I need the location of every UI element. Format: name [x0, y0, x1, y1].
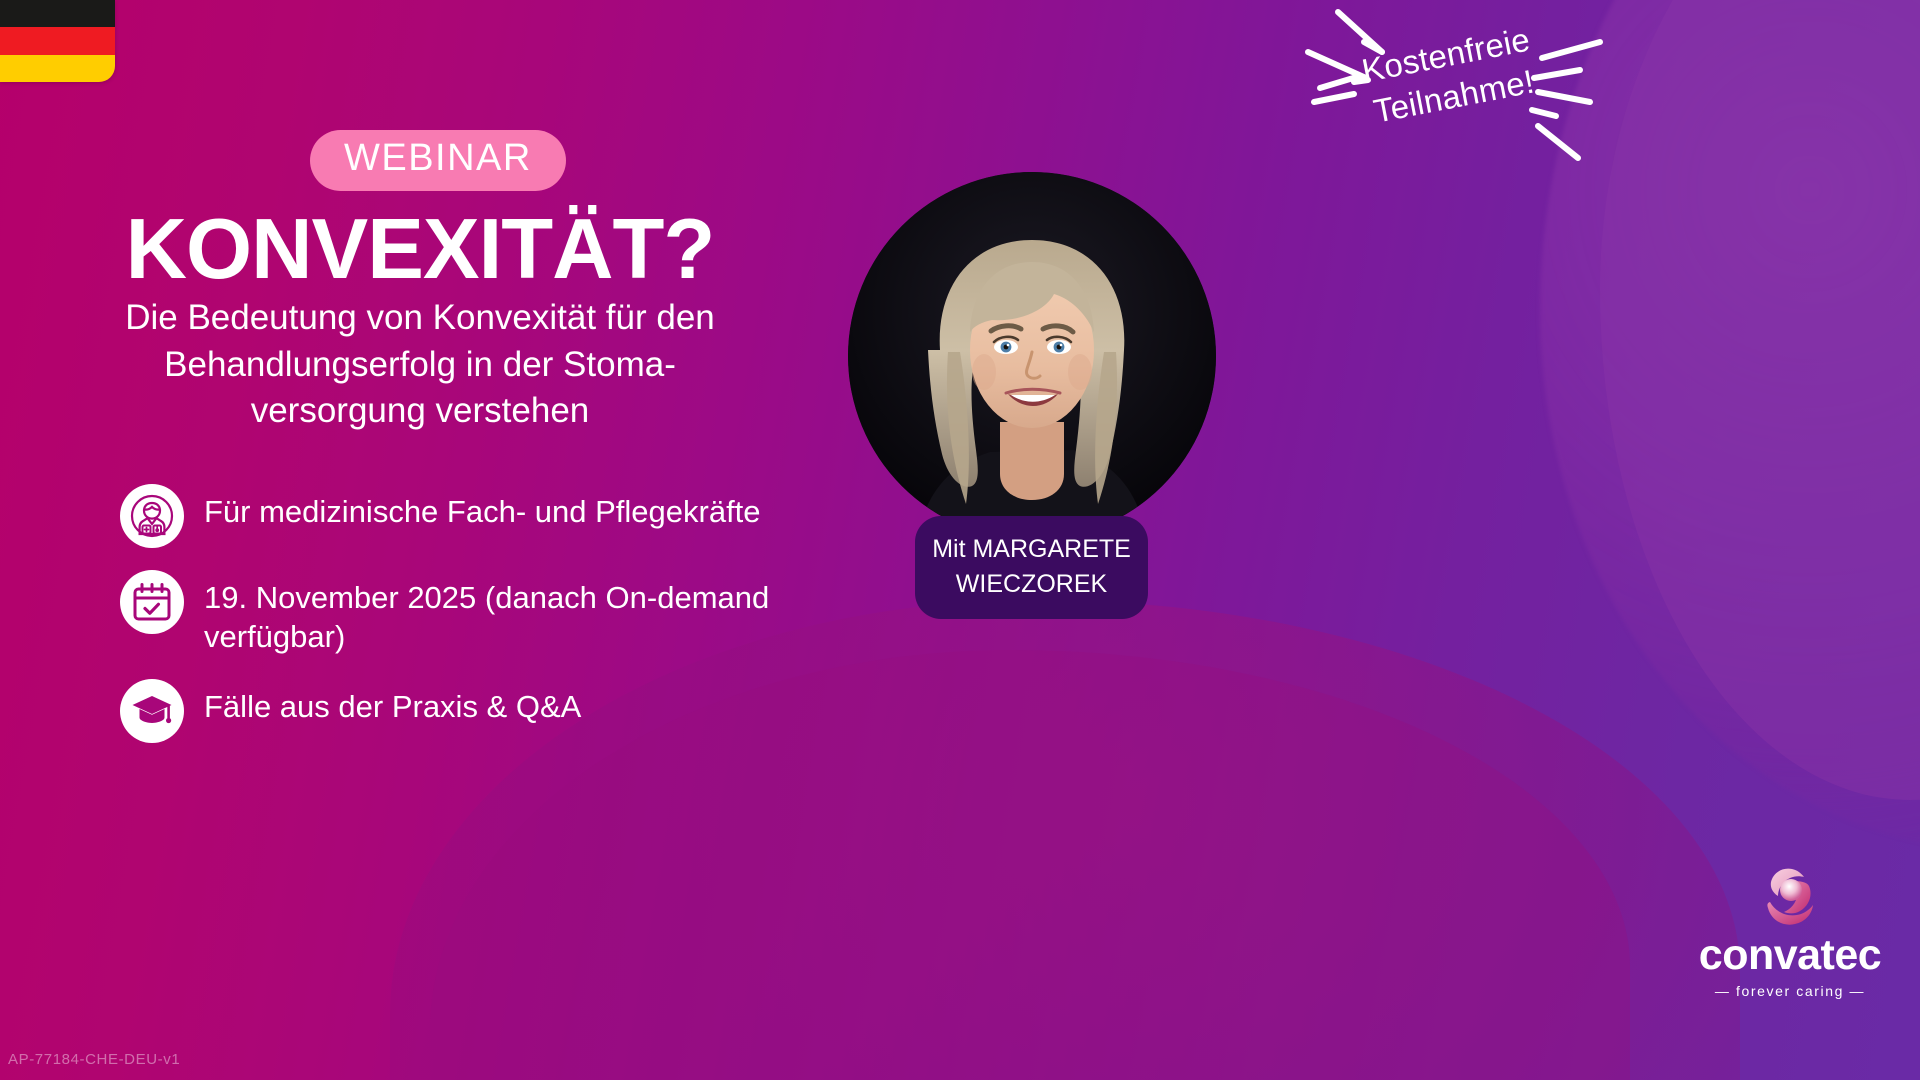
- list-item-label: Für medizinische Fach- und Pflegekräfte: [204, 484, 761, 531]
- convatec-wordmark: convatec: [1690, 934, 1890, 977]
- list-item: Fälle aus der Praxis & Q&A: [120, 679, 820, 743]
- list-item-label: Fälle aus der Praxis & Q&A: [204, 679, 581, 726]
- convatec-logo: convatec — forever caring —: [1690, 862, 1890, 999]
- graduation-cap-icon: [120, 679, 184, 743]
- subtitle-line-1: Die Bedeutung von Konvexität für den: [60, 295, 780, 342]
- medical-professional-icon: [120, 484, 184, 548]
- page-title: KONVEXITÄT?: [0, 205, 840, 294]
- speaker-second-line: WIECZOREK: [931, 567, 1132, 602]
- reference-code: AP-77184-CHE-DEU-v1: [8, 1051, 180, 1068]
- background-blob-right: [1540, 0, 1920, 850]
- avatar: [848, 172, 1216, 540]
- webinar-promo-canvas: WEBINAR KONVEXITÄT? Die Bedeutung von Ko…: [0, 0, 1920, 1080]
- calendar-check-icon: [120, 570, 184, 634]
- list-item-label: 19. November 2025 (danach On-demand verf…: [204, 570, 804, 657]
- subtitle: Die Bedeutung von Konvexität für den Beh…: [60, 295, 780, 435]
- convatec-mark-icon: [1757, 862, 1823, 928]
- free-participation-label: Kostenfreie Teilnahme!: [1324, 12, 1576, 141]
- speaker-first-line: Mit MARGARETE: [931, 532, 1132, 567]
- feature-list: Für medizinische Fach- und Pflegekräfte …: [120, 484, 820, 765]
- webinar-badge: WEBINAR: [310, 130, 566, 191]
- content-column: WEBINAR KONVEXITÄT? Die Bedeutung von Ko…: [0, 0, 860, 1080]
- background-blob-right-inner: [1600, 0, 1920, 800]
- list-item: Für medizinische Fach- und Pflegekräfte: [120, 484, 820, 548]
- speaker-name-badge: Mit MARGARETE WIECZOREK: [915, 516, 1148, 619]
- list-item: 19. November 2025 (danach On-demand verf…: [120, 570, 820, 657]
- subtitle-line-2: Behandlungserfolg in der Stoma-: [60, 342, 780, 389]
- convatec-tagline: — forever caring —: [1690, 983, 1890, 999]
- subtitle-line-3: versorgung verstehen: [60, 388, 780, 435]
- speaker-photo-wrapper: [848, 172, 1216, 540]
